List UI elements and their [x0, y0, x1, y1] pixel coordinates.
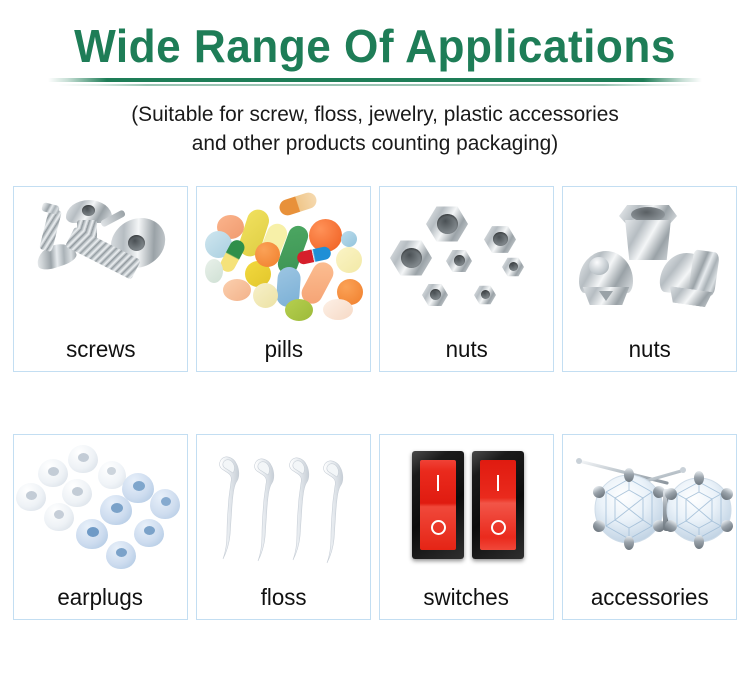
earplugs-photo	[14, 435, 187, 575]
hex-nuts-photo	[380, 187, 553, 327]
application-card-floss[interactable]: floss	[196, 434, 371, 620]
switch-glyph-on	[497, 475, 500, 491]
application-card-earplugs[interactable]: earplugs	[13, 434, 188, 620]
floss-picks-svg	[197, 435, 370, 575]
diamond-earrings-photo	[563, 435, 736, 575]
applications-grid: screws	[13, 186, 737, 620]
application-card-nuts-cap[interactable]: nuts	[562, 186, 737, 372]
application-card-accessories[interactable]: accessories	[562, 434, 737, 620]
card-label: switches	[424, 575, 510, 619]
card-label: accessories	[591, 575, 709, 619]
rocker-switch-right[interactable]	[472, 451, 524, 559]
grid-row-1: screws	[13, 186, 737, 372]
page-title: Wide Range Of Applications	[15, 22, 735, 70]
grid-row-2: earplugs	[13, 434, 737, 620]
rocker-switch-left[interactable]	[412, 451, 464, 559]
switch-glyph-off	[431, 520, 446, 535]
divider-line-thin	[58, 84, 692, 86]
card-label: nuts	[445, 327, 487, 371]
application-card-nuts-hex[interactable]: nuts	[379, 186, 554, 372]
floss-picks-photo	[197, 435, 370, 575]
card-label: earplugs	[58, 575, 144, 619]
application-card-pills[interactable]: pills	[196, 186, 371, 372]
subtitle-line-1: (Suitable for screw, floss, jewelry, pla…	[11, 100, 739, 128]
page-header: Wide Range Of Applications (Suitable for…	[0, 0, 750, 157]
title-divider	[0, 76, 750, 88]
application-card-screws[interactable]: screws	[13, 186, 188, 372]
subtitle-line-2: and other products counting packaging)	[11, 129, 739, 157]
divider-line-thick	[48, 78, 702, 82]
card-label: screws	[66, 327, 135, 371]
card-label: pills	[264, 327, 302, 371]
cap-nuts-photo	[563, 187, 736, 327]
screws-photo	[14, 187, 187, 327]
switch-glyph-on	[437, 475, 440, 491]
rocker-switches-photo	[380, 435, 553, 575]
application-card-switches[interactable]: switches	[379, 434, 554, 620]
pills-photo	[197, 187, 370, 327]
diamond-earrings-svg	[563, 435, 736, 575]
switch-glyph-off	[491, 520, 506, 535]
card-label: nuts	[628, 327, 670, 371]
page-subtitle: (Suitable for screw, floss, jewelry, pla…	[11, 100, 739, 157]
card-label: floss	[261, 575, 307, 619]
